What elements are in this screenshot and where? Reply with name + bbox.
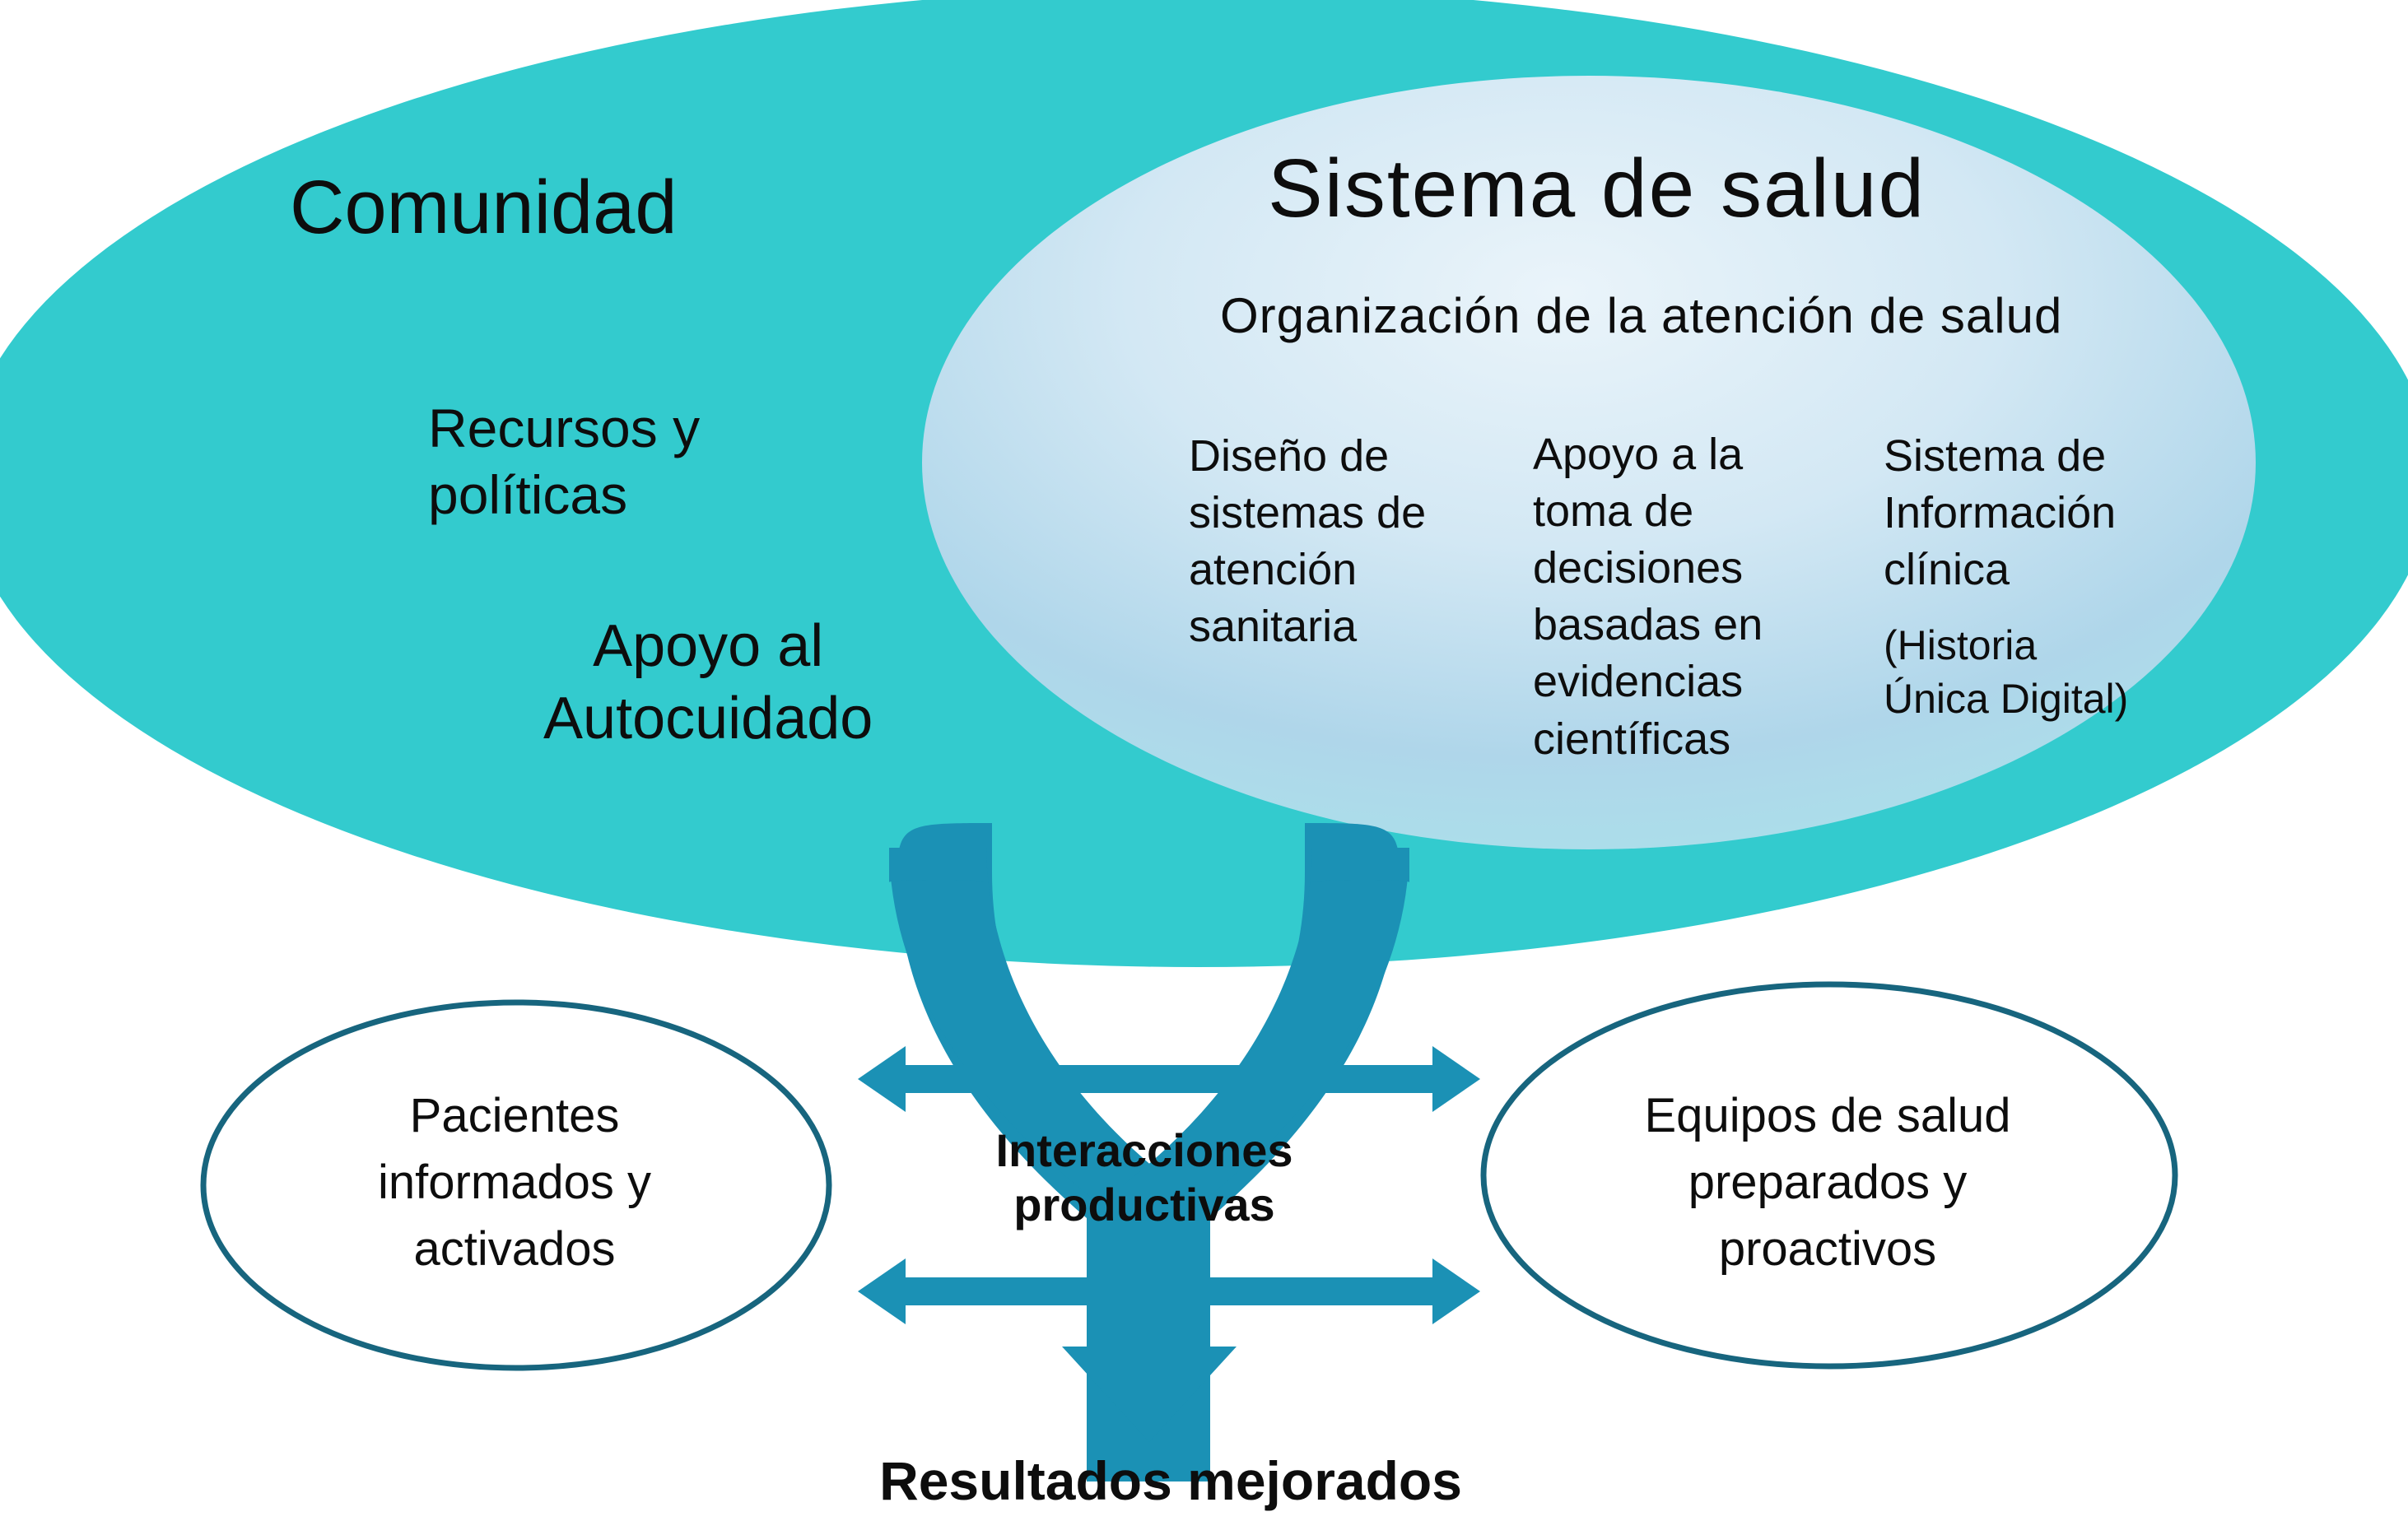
health-system-column-decision-support: Apoyo a la toma de decisiones basadas en… xyxy=(1533,426,1763,768)
patients-ellipse-label: Pacientes informados y activados xyxy=(251,1082,778,1283)
improved-outcomes-label: Resultados mejorados xyxy=(668,1450,1673,1512)
health-system-column-delivery-system-design: Diseño de sistemas de atención sanitaria xyxy=(1189,428,1426,655)
y-flare-upper-left xyxy=(889,848,986,882)
health-system-column-clinical-information-system-note: (Historia Única Digital) xyxy=(1884,619,2128,726)
productive-interactions-label: Interacciones productivas xyxy=(914,1123,1375,1232)
diagram-canvas: Comunidad Recursos y políticas Apoyo al … xyxy=(0,0,2408,1535)
health-system-heading: Sistema de salud xyxy=(1268,142,1926,235)
community-item-selfcare-support: Apoyo al Autocuidado xyxy=(543,611,873,756)
community-item-resources-policies: Recursos y políticas xyxy=(428,395,700,528)
health-system-subheading: Organización de la atención de salud xyxy=(1220,288,2062,344)
health-teams-ellipse-label: Equipos de salud preparados y proactivos xyxy=(1539,1082,2116,1283)
y-flare-upper-right xyxy=(1312,848,1409,882)
community-heading: Comunidad xyxy=(290,165,678,251)
health-system-column-clinical-information-system: Sistema de Información clínica xyxy=(1884,428,2116,598)
